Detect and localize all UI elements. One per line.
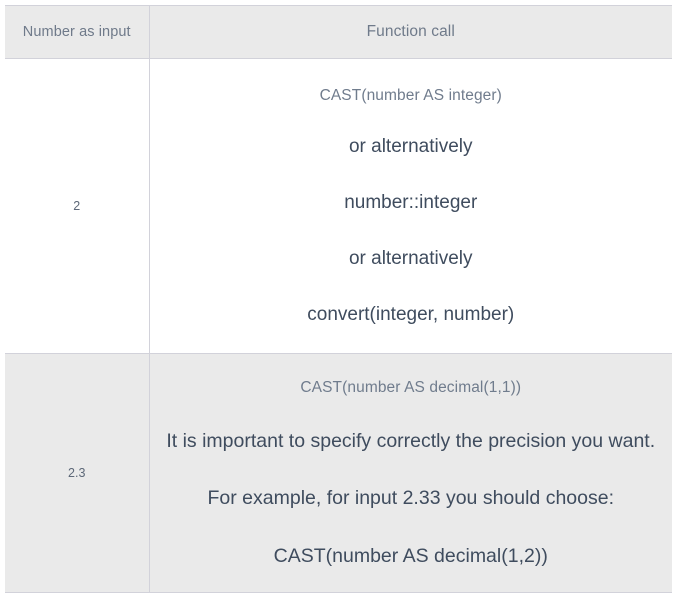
function-call-line: For example, for input 2.33 you should c… — [164, 489, 659, 509]
cell-function-call-row1: CAST(number AS integer) or alternatively… — [149, 59, 672, 354]
table-row: 2 CAST(number AS integer) or alternative… — [5, 59, 672, 354]
column-header-number-as-input: Number as input — [5, 6, 149, 59]
function-call-line: or alternatively — [164, 137, 659, 156]
function-call-table-container: Number as input Function call 2 CAST(num… — [5, 5, 672, 590]
function-call-line: convert(integer, number) — [164, 305, 659, 324]
cell-number-input-row2: 2.3 — [5, 354, 149, 593]
table-body: 2 CAST(number AS integer) or alternative… — [5, 59, 672, 593]
table-row: 2.3 CAST(number AS decimal(1,1)) It is i… — [5, 354, 672, 593]
function-call-line: number::integer — [164, 193, 659, 212]
function-call-line: CAST(number AS decimal(1,1)) — [164, 380, 659, 396]
table-header-row: Number as input Function call — [5, 6, 672, 59]
function-call-lines-row2: CAST(number AS decimal(1,1)) It is impor… — [164, 380, 659, 566]
function-call-table: Number as input Function call 2 CAST(num… — [5, 5, 672, 593]
function-call-line: or alternatively — [164, 249, 659, 268]
function-call-lines-row1: CAST(number AS integer) or alternatively… — [164, 88, 659, 325]
function-call-line: It is important to specify correctly the… — [164, 432, 659, 452]
function-call-line: CAST(number AS decimal(1,2)) — [164, 547, 659, 567]
table-header: Number as input Function call — [5, 6, 672, 59]
cell-number-input-row1: 2 — [5, 59, 149, 354]
column-header-function-call: Function call — [149, 6, 672, 59]
cell-function-call-row2: CAST(number AS decimal(1,1)) It is impor… — [149, 354, 672, 593]
function-call-line: CAST(number AS integer) — [164, 88, 659, 104]
